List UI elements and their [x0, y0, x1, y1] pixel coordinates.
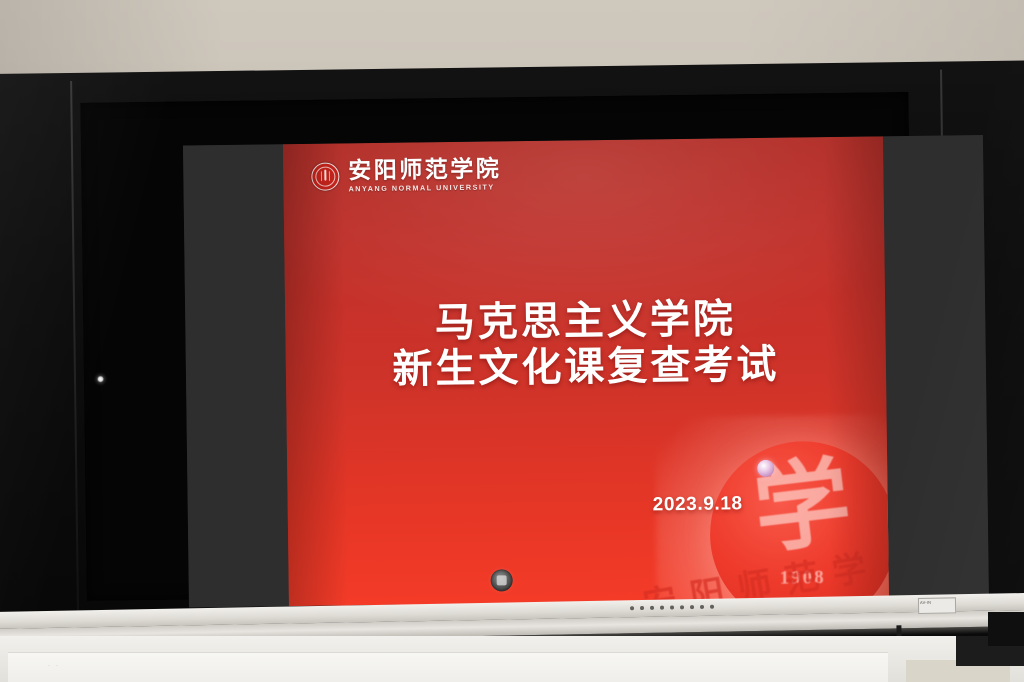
classroom-photo-scene: 安阳师范学院 ANYANG NORMAL UNIVERSITY 学 1908 安… [0, 0, 1024, 682]
whiteboard-panel [8, 652, 888, 682]
laser-pointer-dot-icon [757, 460, 774, 477]
slide-title-line2: 新生文化课复查考试 [286, 341, 887, 395]
lcd-screen[interactable]: 安阳师范学院 ANYANG NORMAL UNIVERSITY 学 1908 安… [183, 135, 989, 607]
decorative-seal-graphic: 学 1908 安阳师范学 [685, 434, 889, 606]
wall-scuff-marks: ·· [48, 663, 64, 669]
seal-founding-year: 1908 [753, 567, 853, 590]
presentation-slide[interactable]: 安阳师范学院 ANYANG NORMAL UNIVERSITY 学 1908 安… [283, 136, 889, 606]
dark-object-corner [988, 612, 1024, 646]
university-seal-icon [311, 162, 339, 190]
letterbox-pillar-right [883, 135, 989, 598]
slide-date: 2023.9.18 [618, 493, 778, 517]
display-assembly: 安阳师范学院 ANYANG NORMAL UNIVERSITY 学 1908 安… [0, 60, 1024, 634]
slide-title-line1: 马克思主义学院 [285, 294, 886, 348]
display-bezel: 安阳师范学院 ANYANG NORMAL UNIVERSITY 学 1908 安… [80, 92, 914, 601]
letterbox-pillar-left [183, 144, 289, 607]
university-name-block: 安阳师范学院 ANYANG NORMAL UNIVERSITY [348, 157, 501, 192]
university-brand-lockup: 安阳师范学院 ANYANG NORMAL UNIVERSITY [311, 157, 501, 193]
seal-disc [709, 440, 889, 606]
ledge-port-label: AV-IN [918, 597, 956, 614]
university-name-en: ANYANG NORMAL UNIVERSITY [348, 183, 501, 192]
ir-sensor-left-icon [96, 375, 105, 384]
seal-arc-text: 安阳师范学 [639, 529, 889, 606]
slide-title: 马克思主义学院 新生文化课复查考试 [285, 294, 886, 395]
university-name-cn: 安阳师范学院 [348, 157, 501, 182]
